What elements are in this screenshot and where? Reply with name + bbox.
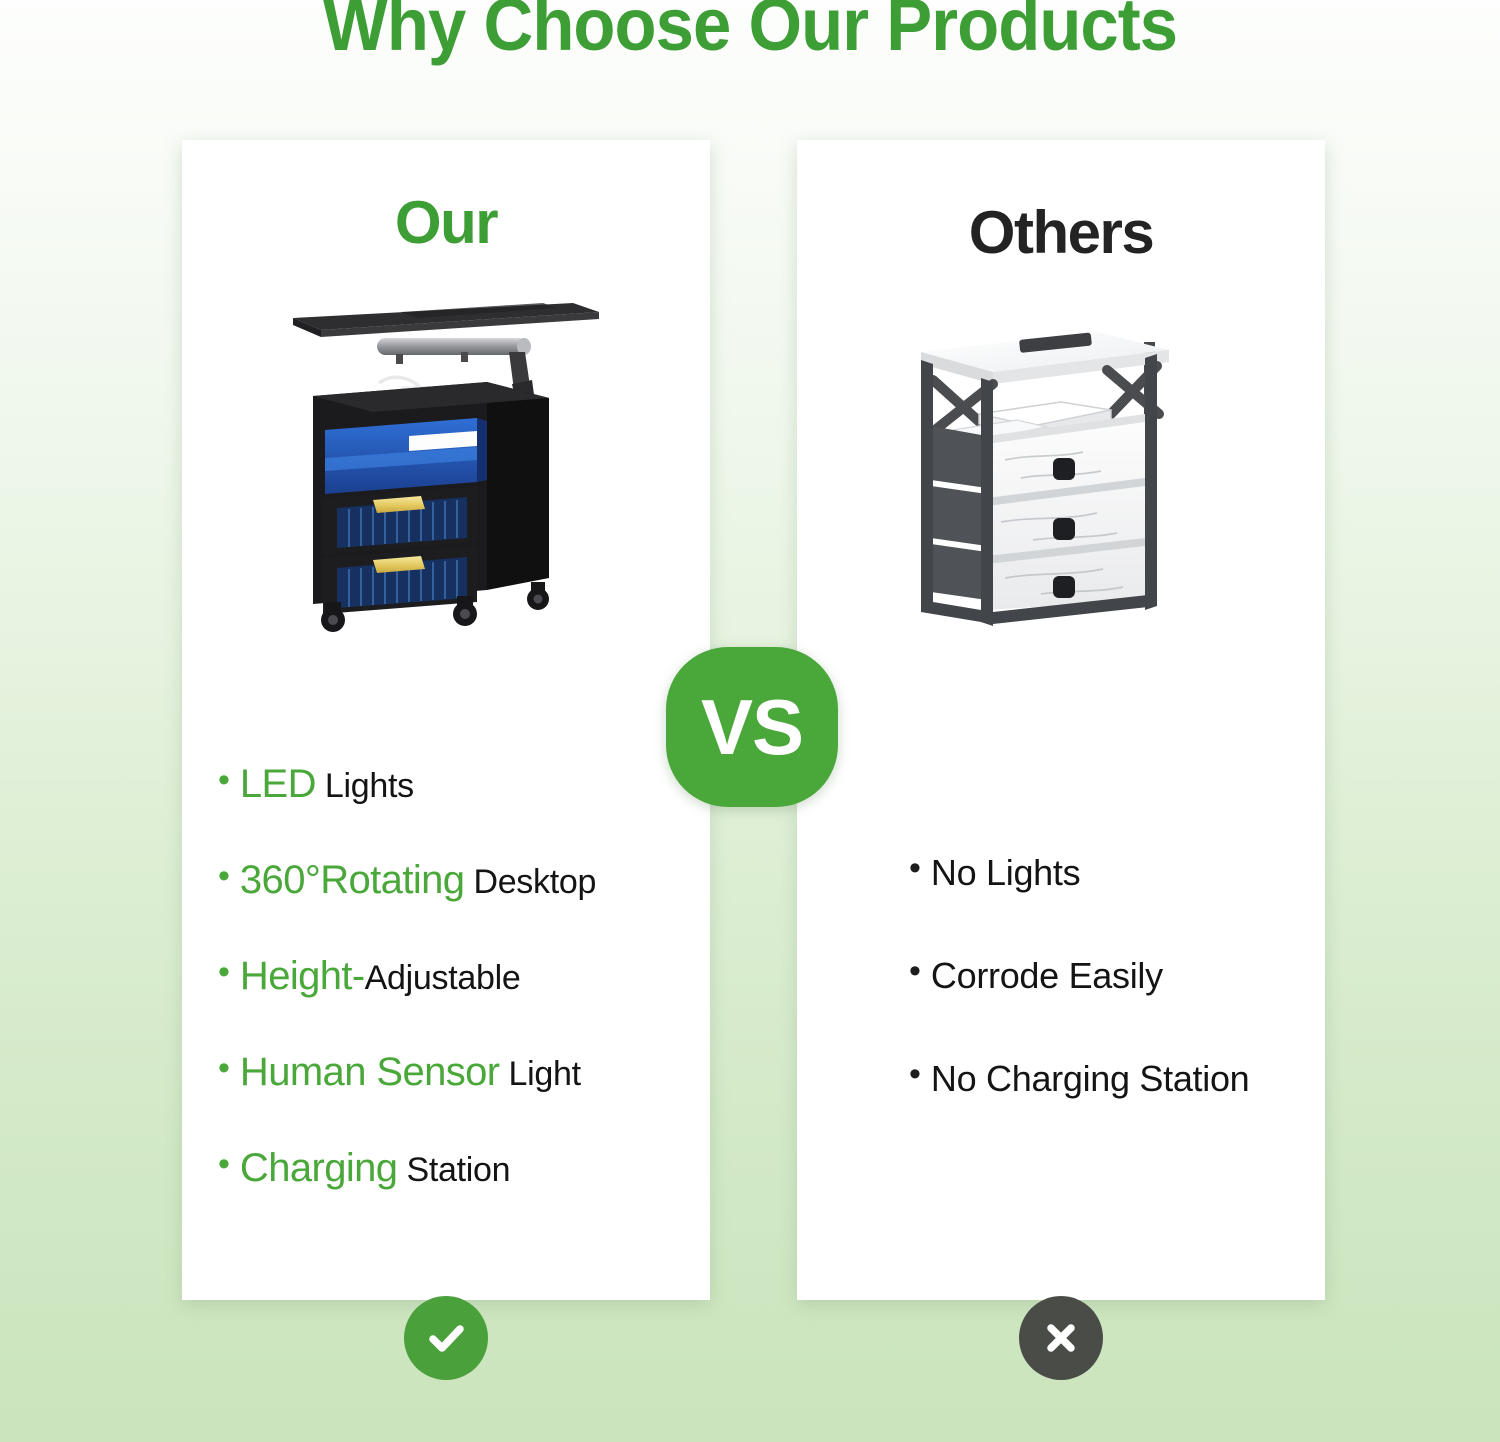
feature-item: • No Lights bbox=[909, 852, 1325, 894]
feature-item: • LED Lights bbox=[218, 762, 710, 807]
feature-item: • No Charging Station bbox=[909, 1058, 1325, 1100]
product-image-others bbox=[797, 300, 1325, 640]
check-badge bbox=[404, 1296, 488, 1380]
cross-icon bbox=[1037, 1314, 1085, 1362]
card-surface-our: Our bbox=[182, 140, 710, 1300]
feature-highlight: Height- bbox=[240, 954, 365, 999]
swivel-desktop bbox=[293, 303, 599, 337]
feature-text: No Lights bbox=[931, 852, 1080, 894]
cross-badge bbox=[1019, 1296, 1103, 1380]
bullet-icon: • bbox=[218, 955, 230, 989]
fabric-bins bbox=[931, 426, 987, 600]
bullet-icon: • bbox=[218, 763, 230, 797]
feature-rest: Desktop bbox=[473, 863, 596, 902]
feature-highlight: LED bbox=[240, 762, 316, 807]
bullet-icon: • bbox=[218, 1051, 230, 1085]
bullet-icon: • bbox=[218, 1147, 230, 1181]
white-nightstand-icon bbox=[901, 310, 1221, 640]
comparison-card-others: Others bbox=[797, 140, 1325, 1300]
bullet-icon: • bbox=[909, 954, 921, 988]
page-title: Why Choose Our Products bbox=[53, 0, 1448, 62]
feature-list-others: • No Lights • Corrode Easily • No Chargi… bbox=[797, 852, 1325, 1161]
bullet-icon: • bbox=[909, 851, 921, 885]
comparison-card-our: Our bbox=[182, 140, 710, 1300]
black-nightstand-icon bbox=[281, 290, 611, 645]
feature-item: • 360°Rotating Desktop bbox=[218, 858, 710, 903]
feature-rest: Adjustable bbox=[365, 959, 521, 998]
feature-list-our: • LED Lights • 360°Rotating Desktop • He… bbox=[182, 762, 710, 1242]
column-heading-our: Our bbox=[182, 193, 710, 253]
feature-highlight: 360°Rotating bbox=[240, 858, 465, 903]
vs-badge: VS bbox=[666, 647, 838, 807]
feature-text: No Charging Station bbox=[931, 1058, 1250, 1100]
feature-rest: Lights bbox=[325, 767, 414, 806]
feature-item: • Corrode Easily bbox=[909, 955, 1325, 997]
table-top bbox=[921, 332, 1169, 384]
feature-item: • Height- Adjustable bbox=[218, 954, 710, 999]
card-surface-others: Others bbox=[797, 140, 1325, 1300]
product-image-our bbox=[182, 285, 710, 645]
bullet-icon: • bbox=[909, 1057, 921, 1091]
drawer-knob bbox=[1053, 458, 1075, 480]
drawer-stack bbox=[987, 414, 1145, 610]
drawer-knob bbox=[1053, 576, 1075, 598]
feature-highlight: Charging bbox=[240, 1146, 398, 1191]
cabinet-body bbox=[313, 382, 549, 614]
feature-rest: Light bbox=[509, 1055, 581, 1094]
bullet-icon: • bbox=[218, 859, 230, 893]
drawer-knob bbox=[1053, 518, 1075, 540]
feature-rest: Station bbox=[406, 1151, 510, 1190]
feature-text: Corrode Easily bbox=[931, 955, 1163, 997]
check-icon bbox=[422, 1314, 470, 1362]
feature-item: • Charging Station bbox=[218, 1146, 710, 1191]
feature-item: • Human Sensor Light bbox=[218, 1050, 710, 1095]
feature-highlight: Human Sensor bbox=[240, 1050, 500, 1095]
column-heading-others: Others bbox=[797, 203, 1325, 263]
